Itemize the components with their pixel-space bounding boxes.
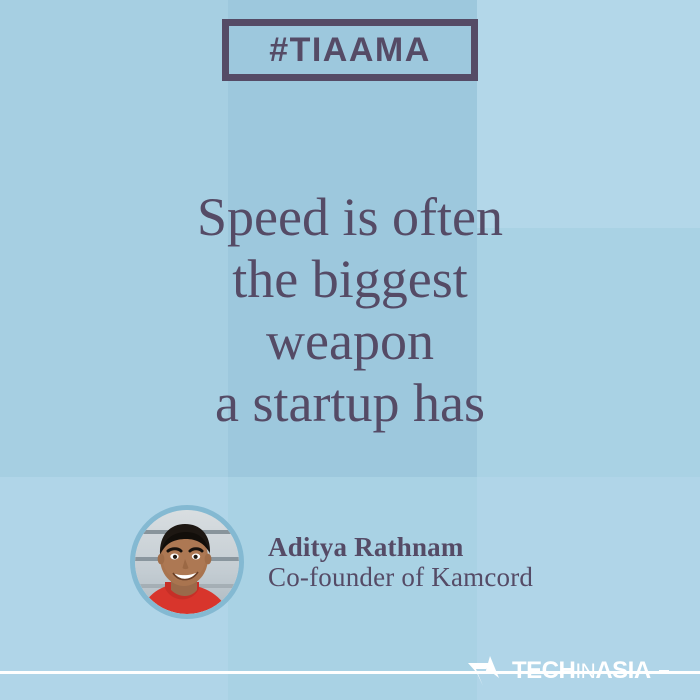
portrait-illustration bbox=[135, 510, 239, 614]
tech-in-asia-wordmark: TECHINASIA bbox=[512, 659, 651, 683]
hashtag-label: #TIAAMA bbox=[269, 33, 431, 67]
quote-text: Speed is often the biggest weapon a star… bbox=[0, 186, 700, 434]
quote-line-4: a startup has bbox=[0, 372, 700, 434]
quote-card: #TIAAMA Speed is often the biggest weapo… bbox=[0, 0, 700, 700]
quote-line-2: the biggest bbox=[0, 248, 700, 310]
person-title: Co-founder of Kamcord bbox=[268, 562, 533, 592]
tech-in-asia-logo: TECHINASIA bbox=[466, 654, 669, 688]
quote-line-3: weapon bbox=[0, 310, 700, 372]
avatar bbox=[130, 505, 244, 619]
attribution-text: Aditya Rathnam Co-founder of Kamcord bbox=[268, 532, 533, 592]
attribution: Aditya Rathnam Co-founder of Kamcord bbox=[130, 505, 533, 619]
quote-line-1: Speed is often bbox=[0, 186, 700, 248]
wordmark-tech: TECH bbox=[512, 657, 575, 684]
tech-in-asia-star-icon bbox=[466, 656, 506, 686]
footer-logo-right-rule bbox=[659, 670, 669, 673]
person-name: Aditya Rathnam bbox=[268, 532, 533, 562]
hashtag-badge: #TIAAMA bbox=[222, 19, 478, 81]
wordmark-asia: ASIA bbox=[595, 657, 650, 684]
avatar-photo bbox=[135, 510, 239, 614]
wordmark-in: IN bbox=[575, 660, 595, 683]
